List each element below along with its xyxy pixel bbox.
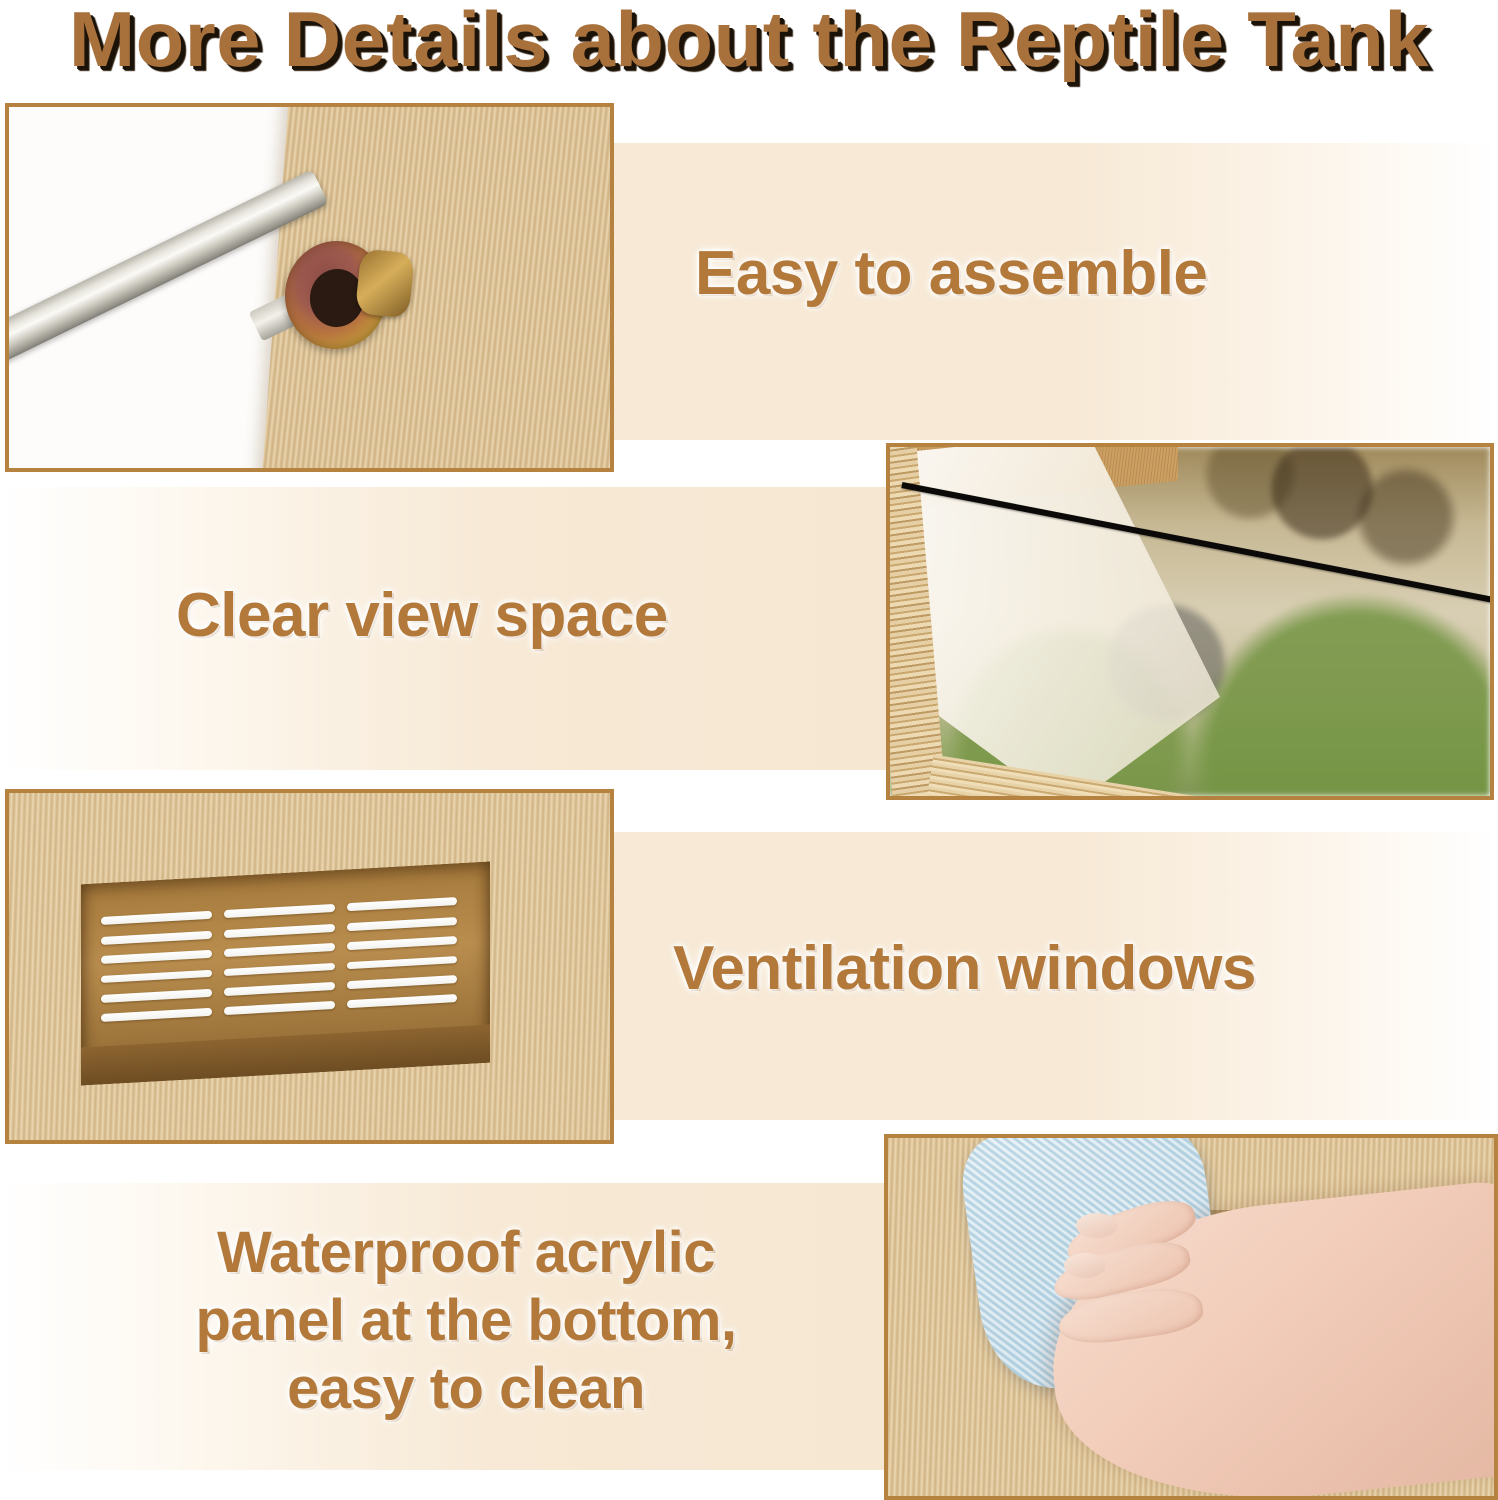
caption-clear-view-space: Clear view space <box>176 578 668 654</box>
fingernail-icon <box>1064 1253 1106 1278</box>
photo-ventilation-windows <box>5 789 614 1144</box>
caption-ventilation-windows: Ventilation windows <box>673 931 1256 1007</box>
infographic-page: More Details about the Reptile Tank Easy… <box>0 0 1498 1500</box>
screw-nut-icon <box>354 249 415 319</box>
photo-easy-to-assemble <box>5 103 614 472</box>
vent-slot <box>224 982 335 996</box>
vent-slot <box>347 994 458 1008</box>
vent-slot-group-2 <box>224 890 335 1029</box>
vent-slot <box>102 1008 213 1022</box>
page-title: More Details about the Reptile Tank <box>0 0 1498 82</box>
vent-slot <box>347 975 458 989</box>
caption-line-3: easy to clean <box>96 1355 836 1423</box>
vent-grille-plate <box>87 869 472 1050</box>
vent-slot <box>347 897 458 911</box>
vent-slot-group-3 <box>347 883 458 1022</box>
vent-slot <box>224 904 335 918</box>
vent-slot <box>224 923 335 937</box>
photo-clear-view-space <box>886 443 1494 800</box>
caption-easy-to-assemble: Easy to assemble <box>695 236 1207 312</box>
vent-slot <box>347 936 458 950</box>
vent-slot <box>224 1001 335 1015</box>
vent-slot <box>347 955 458 969</box>
vent-slot <box>347 917 458 931</box>
caption-line-2: panel at the bottom, <box>96 1287 836 1355</box>
caption-line-1: Waterproof acrylic <box>96 1219 836 1287</box>
caption-waterproof-acrylic-panel: Waterproof acrylic panel at the bottom, … <box>96 1219 836 1423</box>
vent-slot <box>102 969 213 983</box>
vent-slot <box>102 988 213 1002</box>
vent-slot-group-1 <box>102 897 213 1036</box>
vent-slot <box>102 950 213 964</box>
vent-slot <box>102 930 213 944</box>
vent-slot <box>224 962 335 976</box>
photo-waterproof-acrylic-panel <box>884 1134 1498 1500</box>
vent-slot <box>102 911 213 925</box>
vent-slot <box>224 943 335 957</box>
